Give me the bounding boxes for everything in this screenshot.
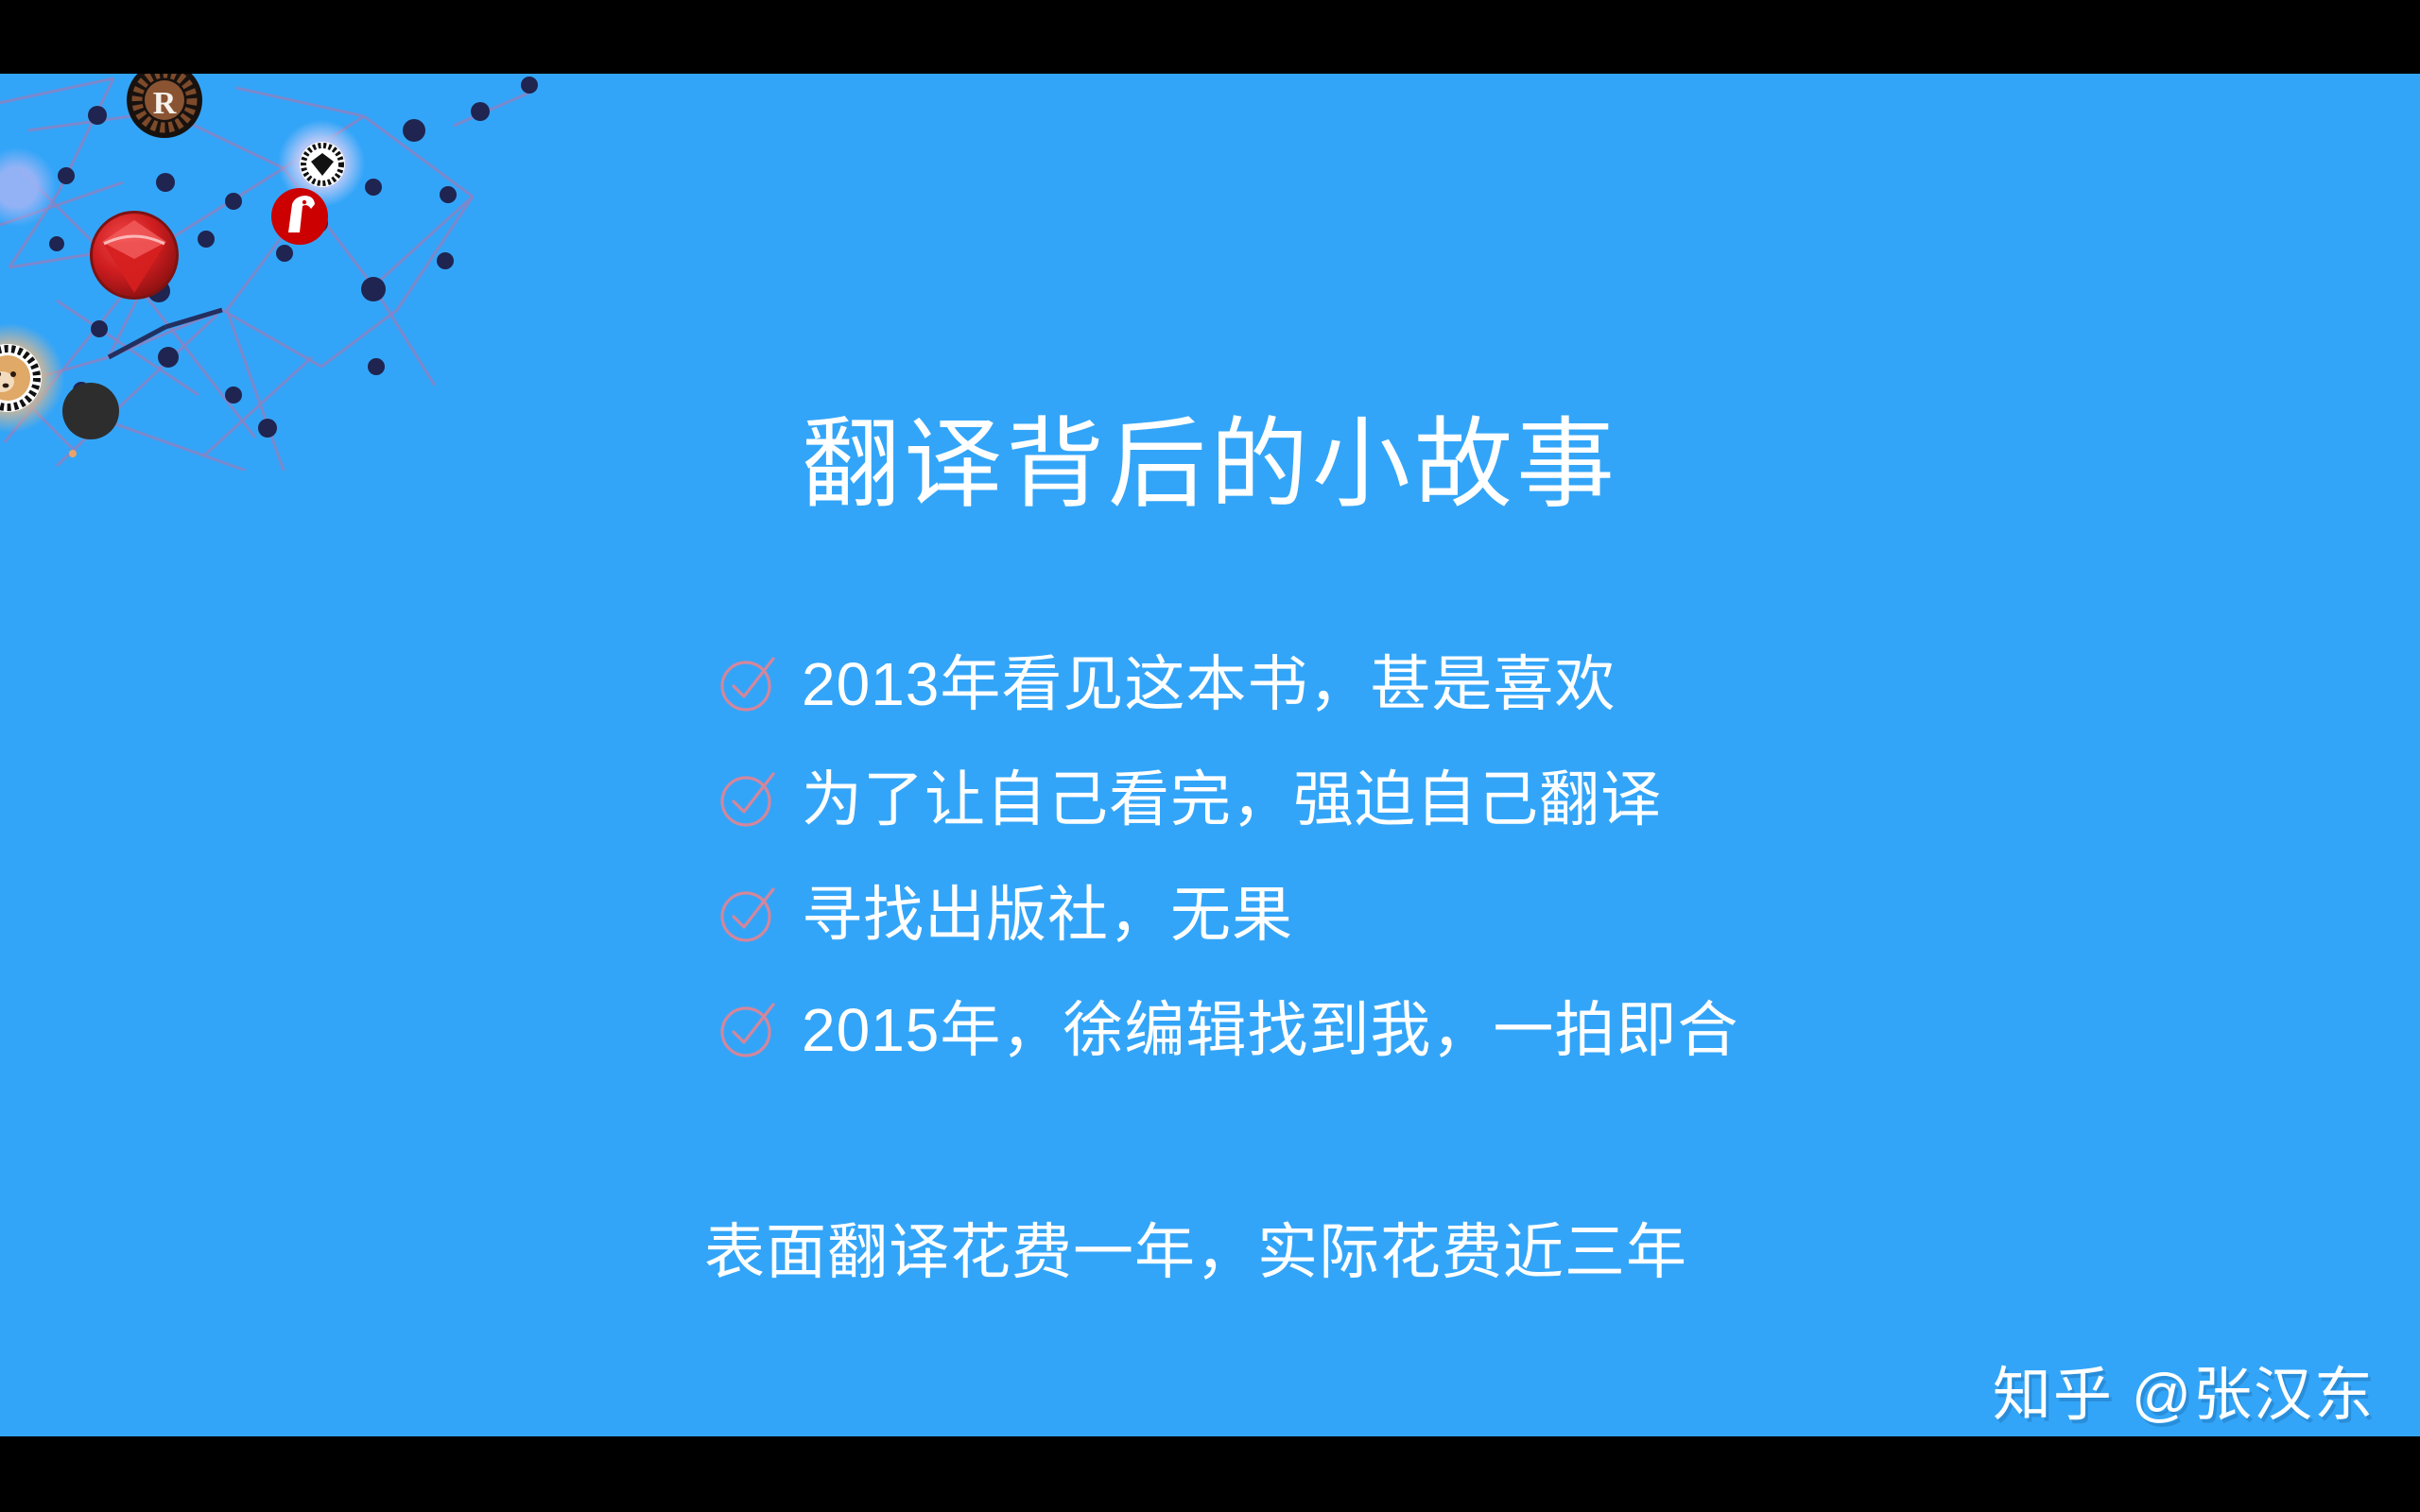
list-item: 2013年看见这本书，甚是喜欢 bbox=[718, 627, 2325, 742]
list-item-label: 2013年看见这本书，甚是喜欢 bbox=[802, 654, 1616, 714]
svg-text:R: R bbox=[153, 86, 177, 121]
circle-check-icon bbox=[718, 885, 777, 944]
list-item-label: 为了让自己看完，强迫自己翻译 bbox=[802, 769, 1662, 830]
sketch-diamond-logo-icon bbox=[300, 142, 345, 187]
list-item-label: 2015年，徐编辑找到我，一拍即合 bbox=[802, 1000, 1738, 1060]
list-item: 寻找出版社，无果 bbox=[718, 857, 2325, 972]
programming-language-network-graphic: R bbox=[0, 74, 586, 471]
page-title: 翻译背后的小故事 bbox=[0, 414, 2420, 517]
ruby-gem-logo-icon bbox=[90, 211, 179, 300]
network-nodes bbox=[0, 77, 538, 438]
slide-root: R bbox=[0, 0, 2420, 1512]
circle-check-icon bbox=[718, 770, 777, 829]
slide-canvas: R bbox=[0, 74, 2420, 1436]
bullet-list: 2013年看见这本书，甚是喜欢 为了让自己看完，强迫自己翻译 bbox=[718, 627, 2325, 1088]
zhihu-watermark: 知乎 @张汉东 bbox=[1993, 1366, 2375, 1425]
letterbox-bar-bottom bbox=[0, 1436, 2420, 1512]
rust-logo-icon: R bbox=[127, 74, 202, 138]
doge-shiba-logo-icon bbox=[0, 344, 42, 412]
letterbox-bar-top bbox=[0, 0, 2420, 74]
list-item: 2015年，徐编辑找到我，一拍即合 bbox=[718, 972, 2325, 1088]
summary-text: 表面翻译花费一年，实际花费近三年 bbox=[704, 1222, 1687, 1282]
perl-camel-logo-icon bbox=[271, 188, 328, 245]
network-edges-accent bbox=[109, 310, 222, 357]
circle-check-icon bbox=[718, 655, 777, 713]
network-edges bbox=[0, 78, 529, 471]
list-item-label: 寻找出版社，无果 bbox=[802, 885, 1293, 945]
circle-check-icon bbox=[718, 1001, 777, 1059]
glow-halo bbox=[0, 147, 57, 227]
glow-halo bbox=[278, 120, 365, 207]
list-item: 为了让自己看完，强迫自己翻译 bbox=[718, 742, 2325, 857]
